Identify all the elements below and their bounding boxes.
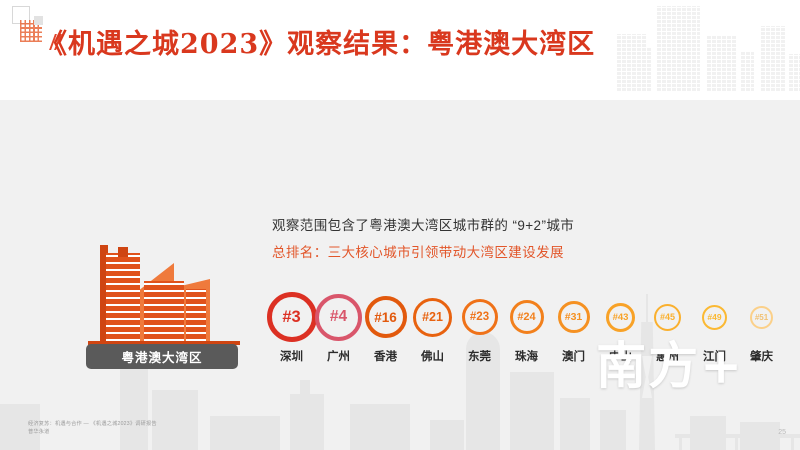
city-name-label: 香港 [374, 348, 397, 364]
skyline-landmark [510, 372, 554, 450]
page-number: 25 [778, 429, 786, 436]
city-name-label: 珠海 [515, 348, 538, 364]
skyline-landmark [740, 422, 780, 450]
skyline-landmark [350, 404, 410, 450]
city-name-label: 广州 [327, 348, 350, 364]
city-name-label: 东莞 [468, 348, 491, 364]
region-label-text: 粤港澳大湾区 [121, 347, 202, 366]
skyline-landmark [152, 390, 198, 450]
rank-badge: #21 [413, 298, 452, 337]
city-name-label: 深圳 [280, 348, 303, 364]
skyline-landmark [430, 420, 464, 450]
intro-line-1: 观察范围包含了粤港澳大湾区城市群的 “9+2”城市 [272, 216, 692, 236]
rank-badge: #51 [750, 306, 773, 329]
skyline-landmark [690, 416, 726, 450]
ranking-item-珠海: #24珠海 [503, 292, 550, 364]
rank-badge: #24 [510, 300, 544, 334]
skyline-building [760, 26, 786, 92]
skyline-building [740, 52, 754, 92]
region-label-badge: 粤港澳大湾区 [86, 344, 238, 369]
building-mid-front [144, 281, 184, 341]
building-tall-left [106, 253, 140, 341]
city-name-label: 肇庆 [750, 348, 773, 364]
rank-badge: #31 [558, 301, 590, 333]
building-roof-cap [118, 247, 128, 257]
skyline-building [656, 6, 700, 92]
skyline-landmark [600, 410, 626, 450]
skyline-building [636, 48, 652, 92]
header-skyline-graphic [610, 0, 800, 98]
bridge-pier [791, 437, 794, 450]
ranking-item-广州: #4广州 [315, 292, 362, 364]
ranking-item-东莞: #23东莞 [456, 292, 503, 364]
ranking-item-肇庆: #51肇庆 [738, 292, 785, 364]
city-name-label: 澳门 [562, 348, 585, 364]
intro-text-block: 观察范围包含了粤港澳大湾区城市群的 “9+2”城市 总排名：三大核心城市引领带动… [272, 216, 692, 263]
page-title: 《机遇之城2023》观察结果：粤港澳大湾区 [40, 22, 595, 61]
slide: 《机遇之城2023》观察结果：粤港澳大湾区 粤港澳大湾区 [0, 0, 800, 450]
city-name-label: 佛山 [421, 348, 444, 364]
footer-line-1: 经济复苏：机遇与合作 — 《机遇之城2023》调研报告 [28, 420, 157, 428]
bridge-pier [679, 437, 682, 450]
ranking-item-香港: #16香港 [362, 292, 409, 364]
building-right-front [186, 289, 206, 341]
skyline-landmark [290, 394, 324, 450]
content-panel: 粤港澳大湾区 观察范围包含了粤港澳大湾区城市群的 “9+2”城市 总排名：三大核… [0, 100, 800, 450]
skyline-building [706, 36, 736, 92]
intro-line-2: 总排名：三大核心城市引领带动大湾区建设发展 [272, 243, 692, 263]
city-illustration: 粤港澳大湾区 [78, 235, 248, 365]
ranking-item-佛山: #21佛山 [409, 292, 456, 364]
ranking-item-深圳: #3深圳 [268, 292, 315, 364]
skyline-landmark [560, 398, 590, 450]
bridge-pier [735, 437, 738, 450]
skyline-building [788, 54, 800, 92]
rank-badge: #23 [462, 299, 498, 335]
rank-badge: #4 [315, 294, 362, 341]
rank-badge: #3 [267, 292, 317, 342]
footer-source: 经济复苏：机遇与合作 — 《机遇之城2023》调研报告 普华永道 [28, 420, 157, 436]
watermark-logo: 南方+ [596, 326, 744, 398]
rank-badge: #16 [365, 296, 407, 338]
footer-line-2: 普华永道 [28, 428, 157, 436]
ranking-item-澳门: #31澳门 [550, 292, 597, 364]
slide-header: 《机遇之城2023》观察结果：粤港澳大湾区 [0, 0, 800, 100]
skyline-landmark [210, 416, 280, 450]
